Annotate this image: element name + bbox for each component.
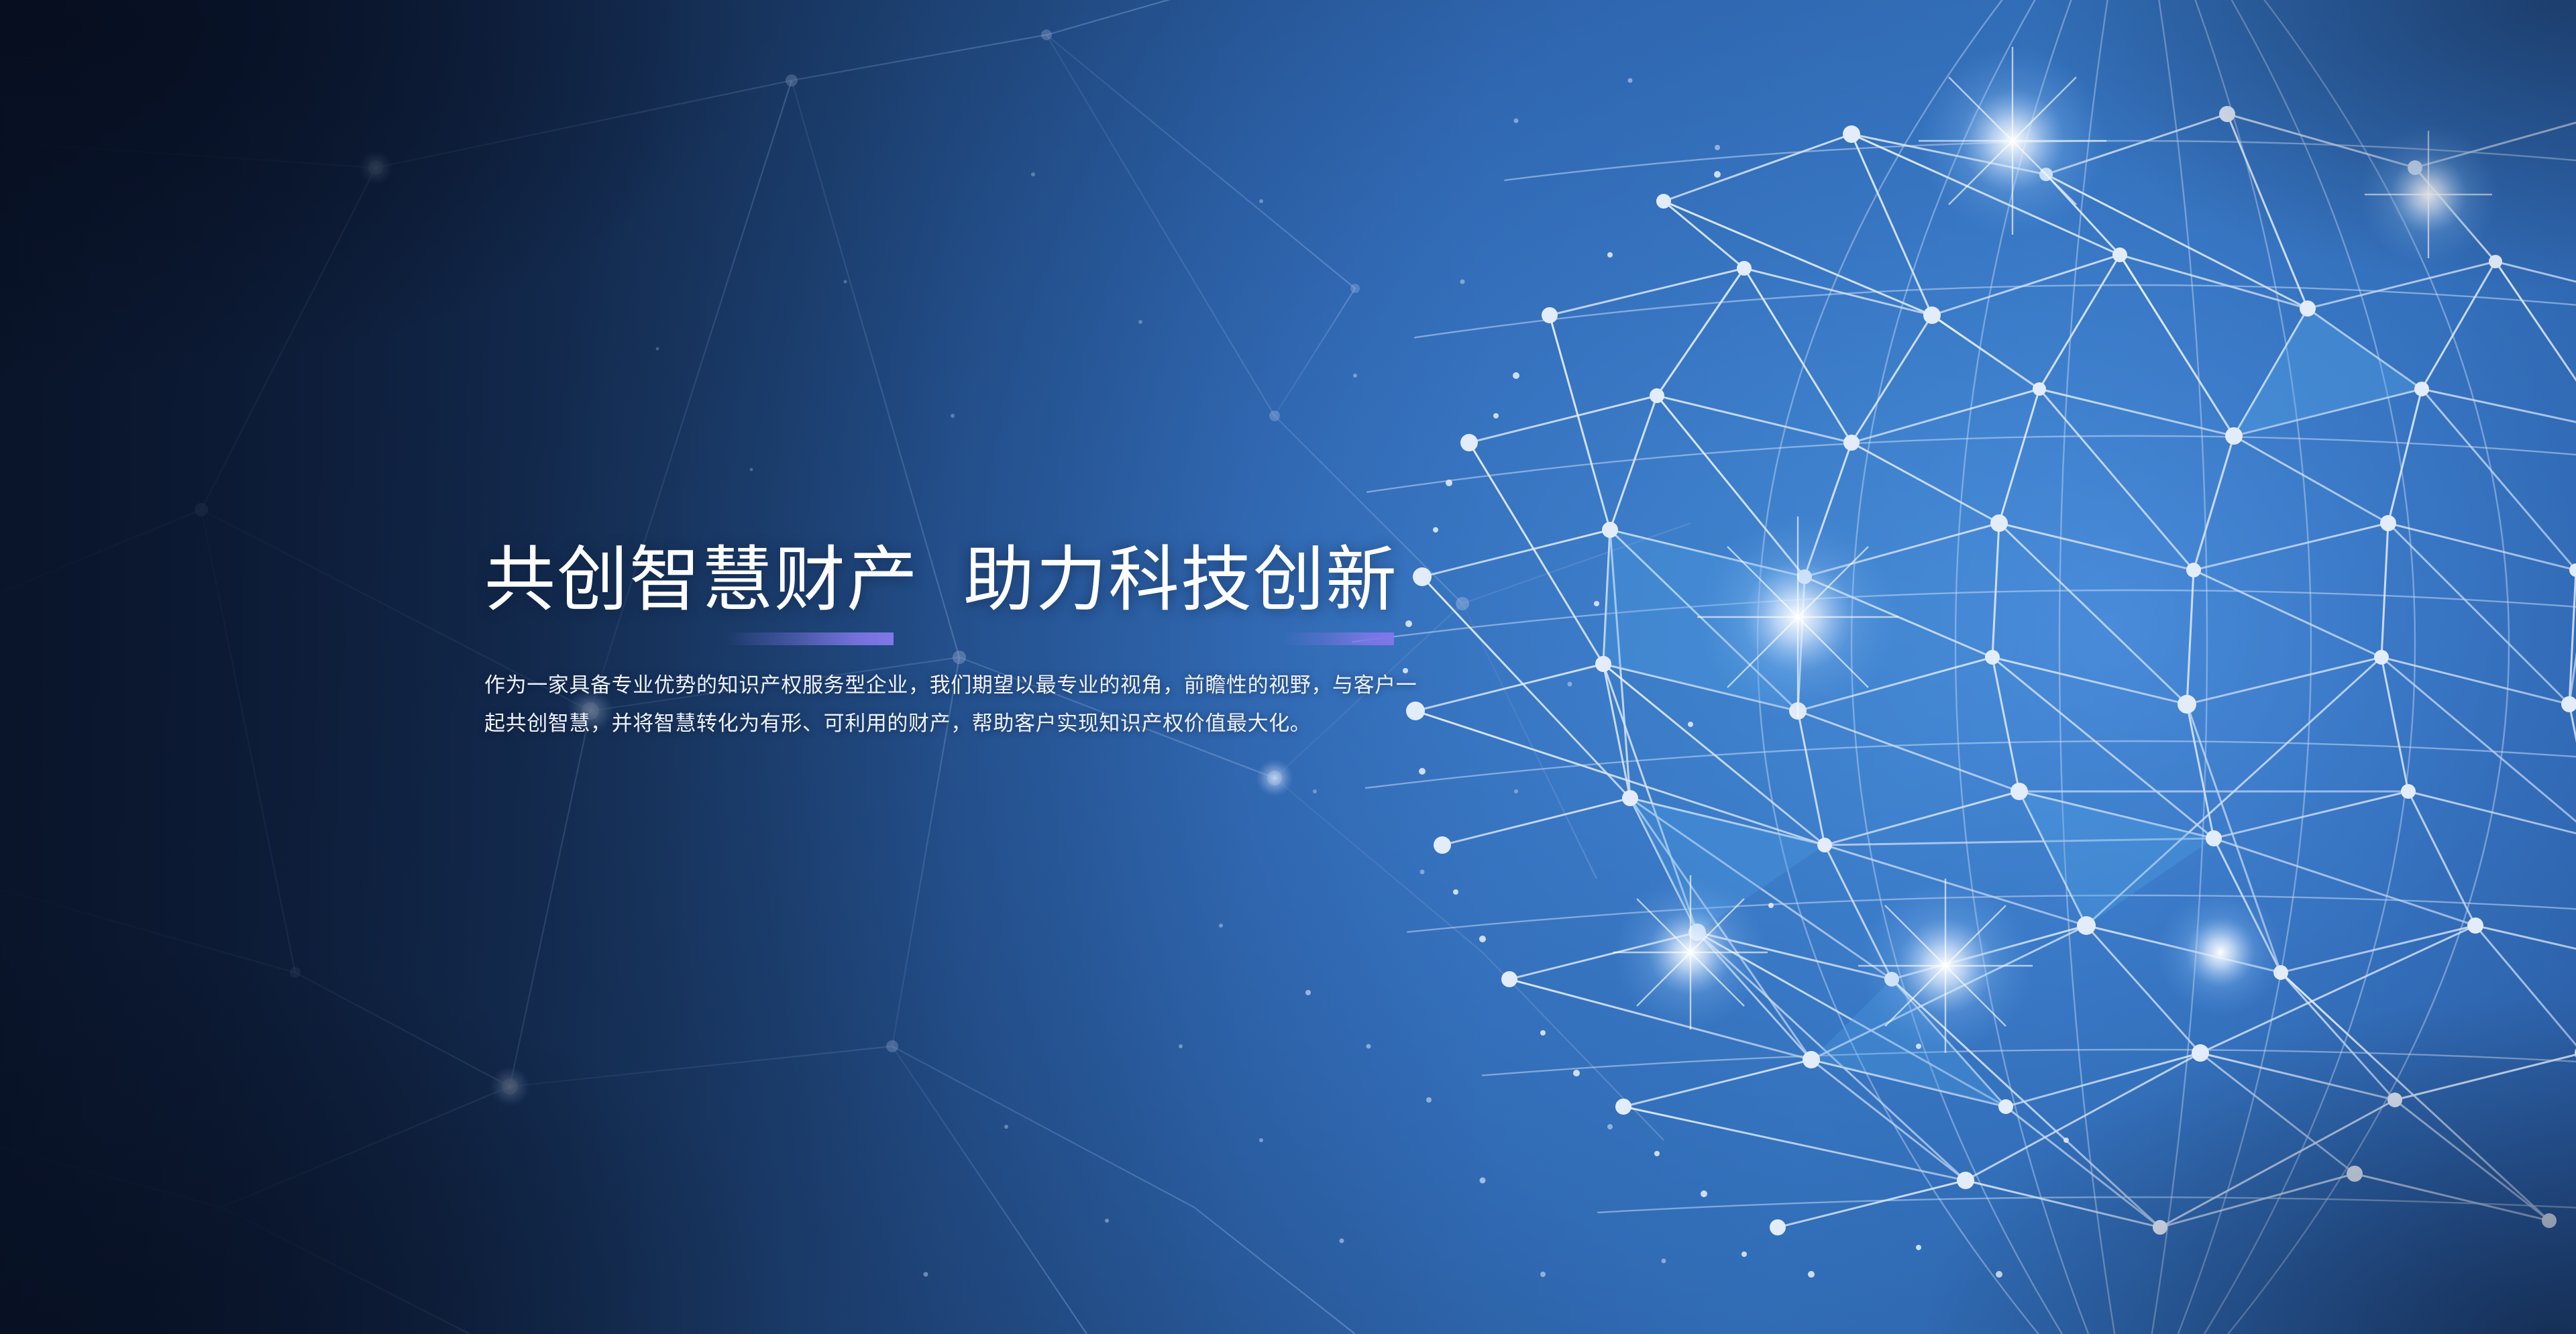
headline-underline-group (484, 627, 1504, 650)
hero-content: 共创智慧财产助力科技创新 作为一家具备专业优势的知识产权服务型企业，我们期望以最… (484, 541, 1504, 742)
accent-rule-2 (1281, 632, 1394, 645)
accent-rule-1 (726, 632, 894, 645)
hero-banner: 共创智慧财产助力科技创新 作为一家具备专业优势的知识产权服务型企业，我们期望以最… (0, 0, 2576, 1334)
headline-part-1: 共创智慧财产 (484, 541, 919, 620)
headline-part-2: 助力科技创新 (963, 541, 1398, 620)
hero-description: 作为一家具备专业优势的知识产权服务型企业，我们期望以最专业的视角，前瞻性的视野，… (484, 666, 1437, 742)
page-title: 共创智慧财产助力科技创新 (484, 541, 1504, 620)
